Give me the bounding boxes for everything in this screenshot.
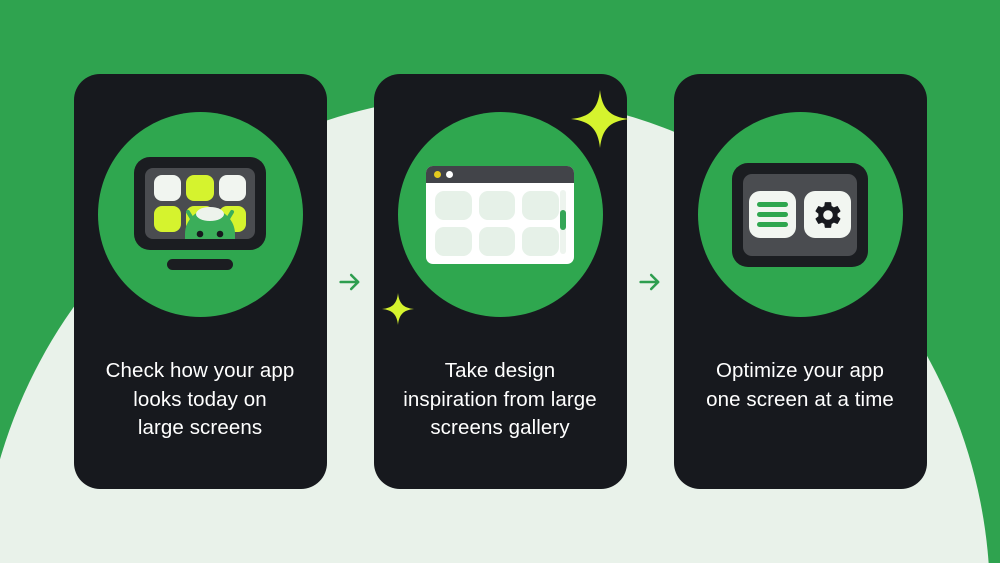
tablet-list-settings-icon xyxy=(732,163,868,267)
window-dot-yellow-icon xyxy=(434,171,441,178)
list-bar xyxy=(757,212,788,217)
gallery-tile xyxy=(479,191,516,220)
large-sparkle-icon xyxy=(571,90,629,148)
caption-line: looks today on xyxy=(133,388,267,411)
browser-window-gallery-icon xyxy=(426,166,574,264)
caption-line: Take design xyxy=(445,359,556,382)
step-card-2[interactable]: Take design inspiration from large scree… xyxy=(374,74,627,489)
gear-panel xyxy=(804,191,851,238)
infographic-canvas: Check how your app looks today on large … xyxy=(0,0,1000,563)
caption-line: large screens xyxy=(138,416,262,439)
step-caption-1: Check how your app looks today on large … xyxy=(74,357,327,443)
tablet-screen xyxy=(743,174,857,256)
caption-line: screens gallery xyxy=(430,416,569,439)
step-caption-2: Take design inspiration from large scree… xyxy=(374,357,627,443)
monitor-app-grid-android-icon xyxy=(134,157,266,273)
caption-line: one screen at a time xyxy=(706,388,894,411)
browser-content xyxy=(426,183,574,264)
monitor-screen xyxy=(145,168,255,239)
steps-row: Check how your app looks today on large … xyxy=(0,0,1000,563)
caption-line: Optimize your app xyxy=(716,359,884,382)
monitor-stand xyxy=(167,259,233,270)
gallery-tile xyxy=(435,227,472,256)
window-dot-white-icon xyxy=(446,171,453,178)
app-tile xyxy=(186,175,213,201)
arrow-right-icon xyxy=(336,268,364,296)
app-tile xyxy=(154,175,181,201)
arrow-right-icon xyxy=(636,268,664,296)
list-panel xyxy=(749,191,796,238)
gallery-tile xyxy=(435,191,472,220)
app-tile xyxy=(219,175,246,201)
icon-circle-2 xyxy=(398,112,603,317)
android-robot-icon xyxy=(181,204,239,239)
gallery-grid xyxy=(435,191,559,256)
list-bar xyxy=(757,222,788,227)
connector-1 xyxy=(327,74,374,489)
step-card-1[interactable]: Check how your app looks today on large … xyxy=(74,74,327,489)
gallery-tile xyxy=(479,227,516,256)
caption-line: Check how your app xyxy=(106,359,295,382)
gallery-tile xyxy=(522,227,559,256)
icon-circle-1 xyxy=(98,112,303,317)
step-card-3[interactable]: Optimize your app one screen at a time xyxy=(674,74,927,489)
small-sparkle-icon xyxy=(382,293,414,325)
badge-wrap-2 xyxy=(374,74,627,317)
badge-wrap-1 xyxy=(74,74,327,317)
app-tile xyxy=(154,206,181,232)
scrollbar-thumb[interactable] xyxy=(560,210,566,230)
browser-titlebar xyxy=(426,166,574,183)
badge-wrap-3 xyxy=(674,74,927,317)
gear-icon xyxy=(812,199,844,231)
step-caption-3: Optimize your app one screen at a time xyxy=(674,357,927,414)
icon-circle-3 xyxy=(698,112,903,317)
list-bar xyxy=(757,202,788,207)
monitor-body xyxy=(134,157,266,250)
gallery-tile xyxy=(522,191,559,220)
caption-line: inspiration from large xyxy=(403,388,597,411)
connector-2 xyxy=(627,74,674,489)
